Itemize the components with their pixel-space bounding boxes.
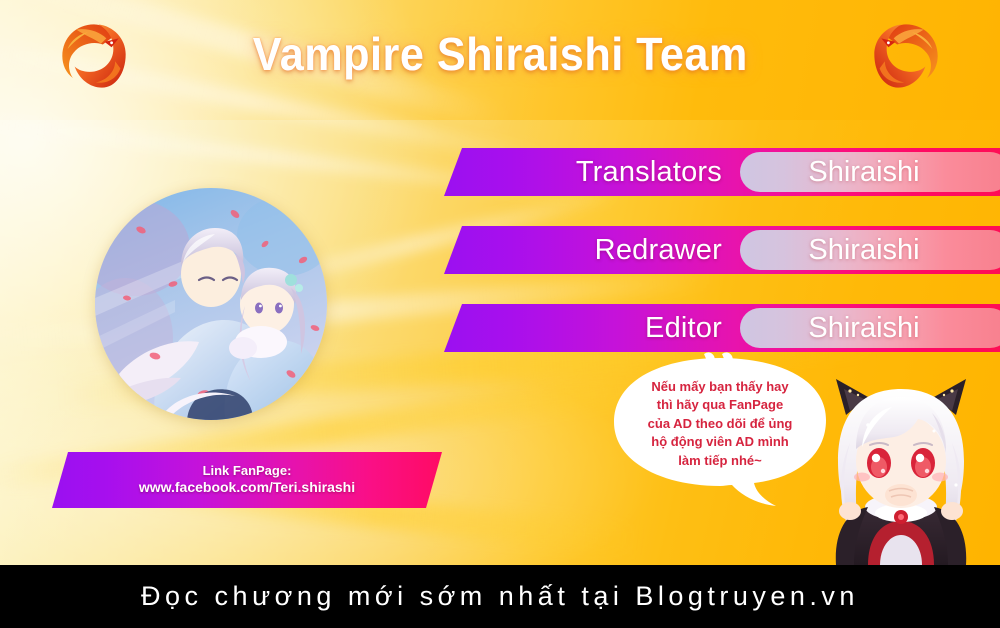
credit-name-label: Shiraishi — [808, 312, 919, 345]
phoenix-logo-icon — [46, 12, 142, 100]
fanpage-label: Link FanPage: — [203, 463, 292, 479]
banner-header: Vampire Shiraishi Team — [0, 0, 1000, 108]
promo-banner: Vampire Shiraishi Team — [0, 0, 1000, 628]
mascot-character — [806, 365, 996, 565]
bubble-line: hộ động viên AD mình — [622, 433, 818, 451]
fanpage-url[interactable]: www.facebook.com/Teri.shirashi — [139, 479, 355, 497]
page-title: Vampire Shiraishi Team — [253, 27, 748, 81]
credit-row-redrawer[interactable]: Redrawer Shiraishi — [444, 226, 1000, 274]
credit-name-pill: Shiraishi — [740, 152, 1000, 192]
credit-row-translators[interactable]: Translators Shiraishi — [444, 148, 1000, 196]
credit-name-pill: Shiraishi — [740, 308, 1000, 348]
footer-bar: Đọc chương mới sớm nhất tại Blogtruyen.v… — [0, 565, 1000, 628]
credit-role-label: Translators — [444, 148, 744, 196]
credit-name-pill: Shiraishi — [740, 230, 1000, 270]
bubble-line: làm tiếp nhé~ — [622, 452, 818, 470]
credit-name-label: Shiraishi — [808, 156, 919, 189]
credit-role-label: Redrawer — [444, 226, 744, 274]
team-artwork-circle — [95, 188, 327, 420]
fanpage-link-banner[interactable]: Link FanPage: www.facebook.com/Teri.shir… — [52, 452, 442, 508]
speech-bubble: Nếu mấy bạn thấy hay thì hãy qua FanPage… — [600, 352, 840, 512]
credit-row-editor[interactable]: Editor Shiraishi — [444, 304, 1000, 352]
phoenix-logo-icon — [858, 12, 954, 100]
bubble-line: Nếu mấy bạn thấy hay — [622, 378, 818, 396]
footer-text: Đọc chương mới sớm nhất tại Blogtruyen.v… — [141, 581, 859, 612]
credit-name-label: Shiraishi — [808, 234, 919, 267]
bubble-line: thì hãy qua FanPage — [622, 396, 818, 414]
bubble-line: của AD theo dõi để ủng — [622, 415, 818, 433]
speech-bubble-text: Nếu mấy bạn thấy hay thì hãy qua FanPage… — [622, 378, 818, 470]
credit-role-label: Editor — [444, 304, 744, 352]
